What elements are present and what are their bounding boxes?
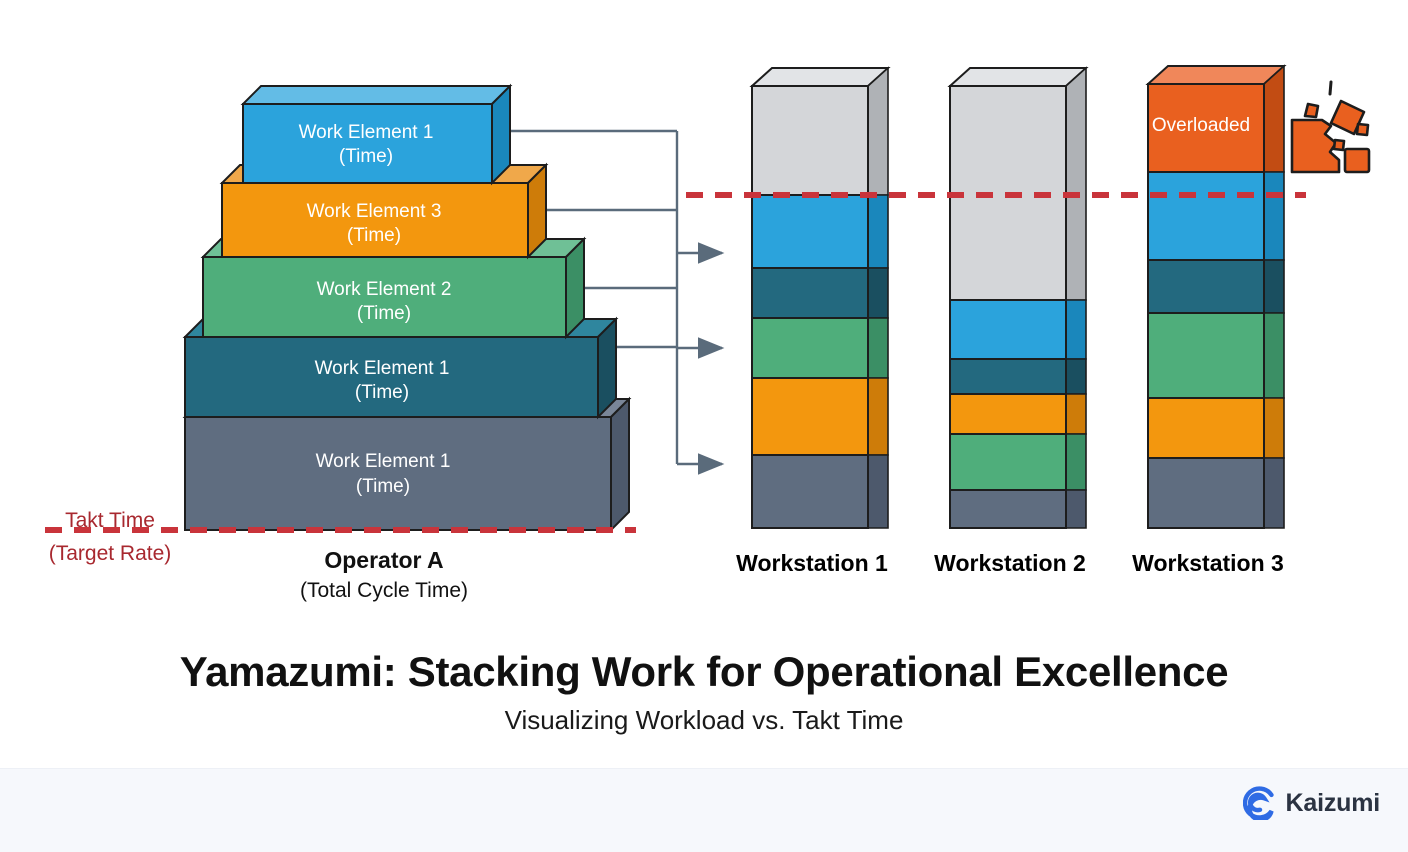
- page-subtitle: Visualizing Workload vs. Takt Time: [0, 705, 1408, 736]
- ws2-segment-orange[interactable]: [950, 394, 1066, 434]
- operator-block-slate[interactable]: Work Element 1 (Time): [185, 399, 629, 530]
- overloaded-label: Overloaded: [1152, 115, 1250, 136]
- operator-sublabel: (Total Cycle Time): [300, 579, 468, 602]
- ws2-segment-slate[interactable]: [950, 490, 1066, 528]
- block-label: Work Element 2: [317, 279, 452, 300]
- operator-a-stack: Work Element 1 (Time) Work Element 1 (Ti…: [185, 86, 629, 530]
- ws2-segment-teal[interactable]: [950, 359, 1066, 394]
- block-label: Work Element 1: [316, 451, 451, 472]
- ws3-segment-blue[interactable]: [1148, 172, 1264, 260]
- block-label: Work Element 3: [307, 201, 442, 222]
- workstation-1-column[interactable]: Workstation 1: [736, 68, 888, 576]
- ws3-segment-orange[interactable]: [1148, 398, 1264, 458]
- ws3-segment-slate[interactable]: [1148, 458, 1264, 528]
- ws3-segment-green[interactable]: [1148, 313, 1264, 398]
- footer-bar: [0, 768, 1408, 852]
- workstation-2-label: Workstation 2: [934, 550, 1086, 576]
- ws2-segment-green[interactable]: [950, 434, 1066, 490]
- block-unit: (Time): [356, 476, 410, 497]
- takt-label-line1: Takt Time: [65, 509, 155, 532]
- ws1-segment-blue[interactable]: [752, 195, 868, 268]
- workstation-3-label: Workstation 3: [1132, 550, 1284, 576]
- brand-logo[interactable]: Kaizumi: [1243, 786, 1380, 820]
- ws1-segment-green[interactable]: [752, 318, 868, 378]
- ws1-segment-slate[interactable]: [752, 455, 868, 528]
- workstation-3-column[interactable]: Overloaded Workstation 3: [1132, 66, 1284, 576]
- operator-name: Operator A: [324, 547, 443, 573]
- block-unit: (Time): [339, 146, 393, 167]
- ws2-segment-blue[interactable]: [950, 300, 1066, 359]
- block-unit: (Time): [357, 303, 411, 324]
- kaizumi-wave-c-icon: [1243, 786, 1277, 820]
- block-unit: (Time): [347, 225, 401, 246]
- ws1-segment-orange[interactable]: [752, 378, 868, 455]
- block-label: Work Element 1: [315, 358, 450, 379]
- ws1-segment-gray[interactable]: [752, 86, 868, 195]
- block-label: Work Element 1: [299, 122, 434, 143]
- ws1-segment-teal[interactable]: [752, 268, 868, 318]
- brand-name: Kaizumi: [1286, 789, 1380, 818]
- breaking-block-icon: [1292, 82, 1369, 172]
- slide-canvas: Work Element 1 (Time) Work Element 1 (Ti…: [0, 0, 1408, 851]
- block-unit: (Time): [355, 382, 409, 403]
- takt-label-line2: (Target Rate): [49, 542, 172, 565]
- operator-block-blue[interactable]: Work Element 1 (Time): [243, 86, 510, 183]
- workstation-1-label: Workstation 1: [736, 550, 888, 576]
- workstation-2-column[interactable]: Workstation 2: [934, 68, 1086, 576]
- page-title: Yamazumi: Stacking Work for Operational …: [0, 648, 1408, 696]
- ws3-segment-teal[interactable]: [1148, 260, 1264, 313]
